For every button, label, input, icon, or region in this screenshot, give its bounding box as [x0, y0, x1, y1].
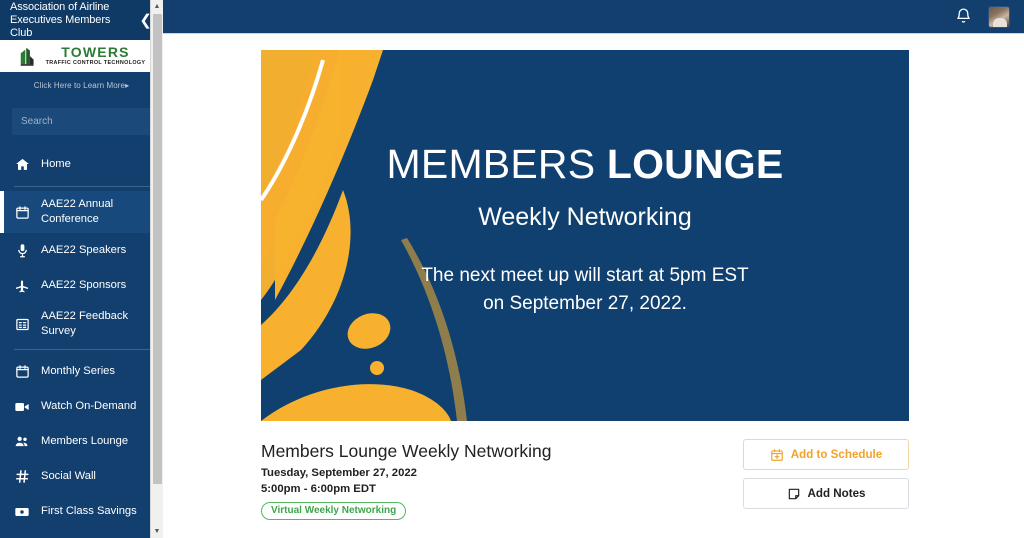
sidebar-item-label: Watch On-Demand [41, 399, 136, 414]
survey-icon [14, 317, 30, 332]
calendar-icon [14, 364, 30, 379]
airplane-icon [14, 278, 30, 294]
add-notes-label: Add Notes [808, 487, 866, 500]
sidebar-item-label: AAE22 Annual Conference [41, 197, 153, 227]
people-icon [14, 433, 30, 450]
sidebar-item-label: First Class Savings [41, 504, 137, 519]
sidebar-divider [14, 186, 151, 187]
sidebar-item-aae22-annual-conference[interactable]: AAE22 Annual Conference [0, 191, 163, 233]
search-box[interactable]: 🔍 [12, 108, 151, 135]
add-notes-button[interactable]: Add Notes [743, 478, 909, 509]
sidebar-item-first-class-savings[interactable]: First Class Savings [0, 494, 163, 529]
chevron-right-icon: ▸ [125, 81, 129, 90]
sidebar-header: Association of Airline Executives Member… [0, 0, 163, 40]
add-to-schedule-label: Add to Schedule [791, 448, 882, 461]
scroll-down-arrow-icon[interactable]: ▼ [151, 525, 163, 538]
app-root: Association of Airline Executives Member… [0, 0, 1024, 538]
sidebar-item-label: AAE22 Feedback Survey [41, 309, 153, 339]
sidebar-item-aae22-feedback-survey[interactable]: AAE22 Feedback Survey [0, 303, 163, 345]
sponsor-name: TOWERS [61, 45, 129, 59]
search-container: 🔍 [0, 98, 163, 143]
sidebar-divider [14, 349, 151, 350]
event-info: Members Lounge Weekly Networking Tuesday… [261, 439, 743, 520]
sponsor-tagline: TRAFFIC CONTROL TECHNOLOGY [46, 59, 146, 67]
event-time: 5:00pm - 6:00pm EDT [261, 481, 743, 497]
hero-banner: MEMBERS LOUNGE Weekly Networking The nex… [261, 50, 909, 421]
bell-icon[interactable] [955, 7, 972, 27]
hero-subtitle: Weekly Networking [261, 202, 909, 232]
building-icon [18, 45, 40, 67]
hero-note: The next meet up will start at 5pm EST o… [261, 262, 909, 318]
sponsor-cta-link[interactable]: Click Here to Learn More▸ [0, 72, 163, 98]
sidebar-item-label: AAE22 Speakers [41, 243, 126, 258]
event-date: Tuesday, September 27, 2022 [261, 465, 743, 481]
microphone-icon [14, 243, 30, 258]
note-icon [787, 487, 801, 501]
calendar-icon [14, 205, 30, 220]
sidebar-nav: Home AAE22 Annual Conference AAE22 Speak… [0, 143, 163, 529]
sidebar-item-monthly-series[interactable]: Monthly Series [0, 354, 163, 389]
topbar [163, 0, 1024, 34]
sidebar-item-label: Social Wall [41, 469, 96, 484]
sidebar: Association of Airline Executives Member… [0, 0, 163, 538]
hero-text-block: MEMBERS LOUNGE Weekly Networking The nex… [261, 50, 909, 318]
sidebar-item-home[interactable]: Home [0, 147, 163, 182]
event-tag-badge: Virtual Weekly Networking [261, 502, 406, 520]
hashtag-icon [14, 469, 30, 484]
money-icon [14, 504, 30, 520]
sponsor-banner[interactable]: TOWERS TRAFFIC CONTROL TECHNOLOGY [0, 40, 163, 72]
hero-note-line-2: on September 27, 2022. [261, 290, 909, 318]
add-to-schedule-button[interactable]: Add to Schedule [743, 439, 909, 470]
content-area: MEMBERS LOUNGE Weekly Networking The nex… [163, 34, 1024, 520]
sidebar-item-watch-on-demand[interactable]: Watch On-Demand [0, 389, 163, 424]
hero-note-line-1: The next meet up will start at 5pm EST [261, 262, 909, 290]
sidebar-item-label: Monthly Series [41, 364, 115, 379]
scrollbar-thumb[interactable] [153, 14, 162, 484]
sidebar-item-label: Home [41, 157, 71, 172]
sidebar-item-label: Members Lounge [41, 434, 128, 449]
hero-title-bold: LOUNGE [607, 141, 784, 187]
event-title: Members Lounge Weekly Networking [261, 439, 743, 463]
sidebar-item-members-lounge[interactable]: Members Lounge [0, 424, 163, 459]
sidebar-item-social-wall[interactable]: Social Wall [0, 459, 163, 494]
event-actions: Add to Schedule Add Notes [743, 439, 909, 509]
hero-title: MEMBERS LOUNGE [261, 140, 909, 188]
main-content: MEMBERS LOUNGE Weekly Networking The nex… [163, 0, 1024, 538]
event-details: Members Lounge Weekly Networking Tuesday… [261, 439, 909, 520]
home-icon [14, 157, 30, 172]
sidebar-scrollbar[interactable]: ▲ ▼ [150, 0, 163, 538]
sidebar-item-label: AAE22 Sponsors [41, 278, 126, 293]
sidebar-item-aae22-sponsors[interactable]: AAE22 Sponsors [0, 268, 163, 303]
scroll-up-arrow-icon[interactable]: ▲ [151, 0, 163, 13]
sponsor-cta-label: Click Here to Learn More [34, 81, 125, 90]
search-input[interactable] [21, 116, 153, 127]
sidebar-title: Association of Airline Executives Member… [10, 1, 132, 40]
hero-title-light: MEMBERS [387, 141, 596, 187]
calendar-plus-icon [770, 448, 784, 462]
video-camera-icon [14, 399, 30, 415]
sidebar-item-aae22-speakers[interactable]: AAE22 Speakers [0, 233, 163, 268]
avatar[interactable] [988, 6, 1010, 28]
